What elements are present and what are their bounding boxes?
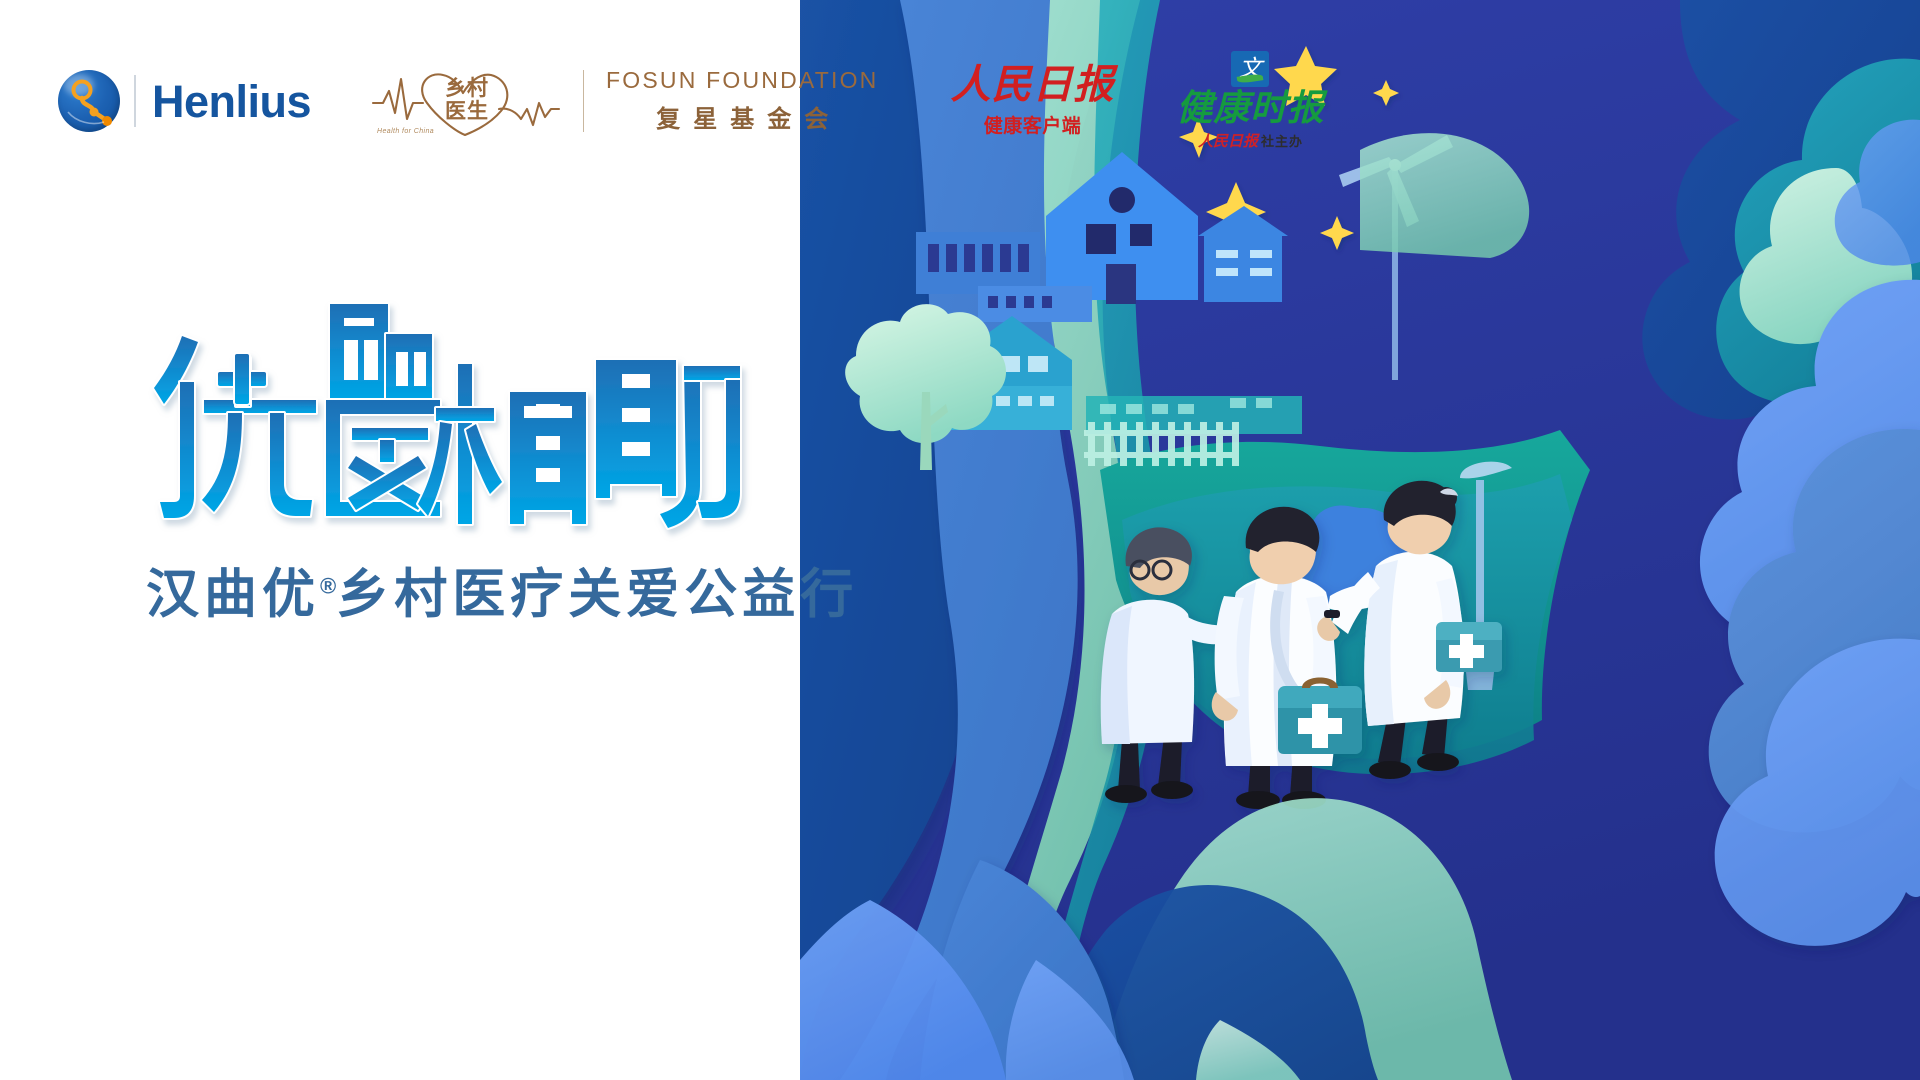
peoples-daily-masthead: 人民日报 [950, 65, 1114, 105]
title-char-zhu [596, 360, 740, 528]
banner-canvas: Henlius 乡村 医生 Health for China FOSUN FOU… [0, 0, 1920, 1080]
rural-doctor-name: 乡村 医生 [425, 77, 509, 125]
logo-henlius[interactable]: Henlius [58, 70, 311, 132]
medical-bag-center [1278, 678, 1362, 755]
registered-mark-icon: ® [320, 573, 336, 598]
health-times-masthead: 健康时报 [1176, 90, 1324, 126]
fosun-name-cn: 复星基金会 [606, 99, 878, 134]
logo-divider-2 [583, 70, 584, 132]
title-char-yi [326, 304, 440, 516]
title-char-xiang [418, 364, 586, 524]
fosun-name-en: FOSUN FOUNDATION [606, 68, 878, 93]
subtitle-rest: 乡村医疗关爱公益行 [336, 565, 858, 624]
henlius-emblem-icon [58, 70, 120, 132]
subtitle: 汉曲优®乡村医疗关爱公益行 [146, 552, 960, 628]
sponsor-red-text: 人民日报 [1198, 130, 1258, 151]
partner-logo-bar: Henlius 乡村 医生 Health for China FOSUN FOU… [0, 52, 1325, 150]
main-title-logotype [140, 296, 960, 546]
logo-peoples-daily-health[interactable]: 人民日报 健康客户端 [950, 65, 1114, 138]
logo-fosun-foundation[interactable]: FOSUN FOUNDATION 复星基金会 [606, 68, 878, 133]
sponsor-black-text: 社主办 [1261, 131, 1303, 150]
title-char-you [154, 336, 316, 518]
title-block: 汉曲优®乡村医疗关爱公益行 [0, 296, 960, 628]
health-times-sponsor: 人民日报 社主办 [1176, 130, 1324, 151]
logo-divider [134, 75, 136, 127]
henlius-wordmark: Henlius [152, 79, 311, 124]
rural-line-1: 乡村 [425, 77, 509, 100]
logo-health-times[interactable]: 文 健康时报 人民日报 社主办 [1176, 51, 1324, 151]
peoples-daily-subtitle: 健康客户端 [950, 111, 1114, 138]
rural-doctor-tagline: Health for China [377, 128, 434, 135]
village-illustration [800, 0, 1920, 1080]
health-times-badge-icon: 文 [1231, 51, 1269, 87]
logo-rural-doctor[interactable]: 乡村 医生 Health for China [371, 63, 561, 139]
medical-bag-right [1436, 622, 1502, 672]
subtitle-brand: 汉曲优 [146, 565, 320, 624]
rural-line-2: 医生 [425, 100, 509, 123]
